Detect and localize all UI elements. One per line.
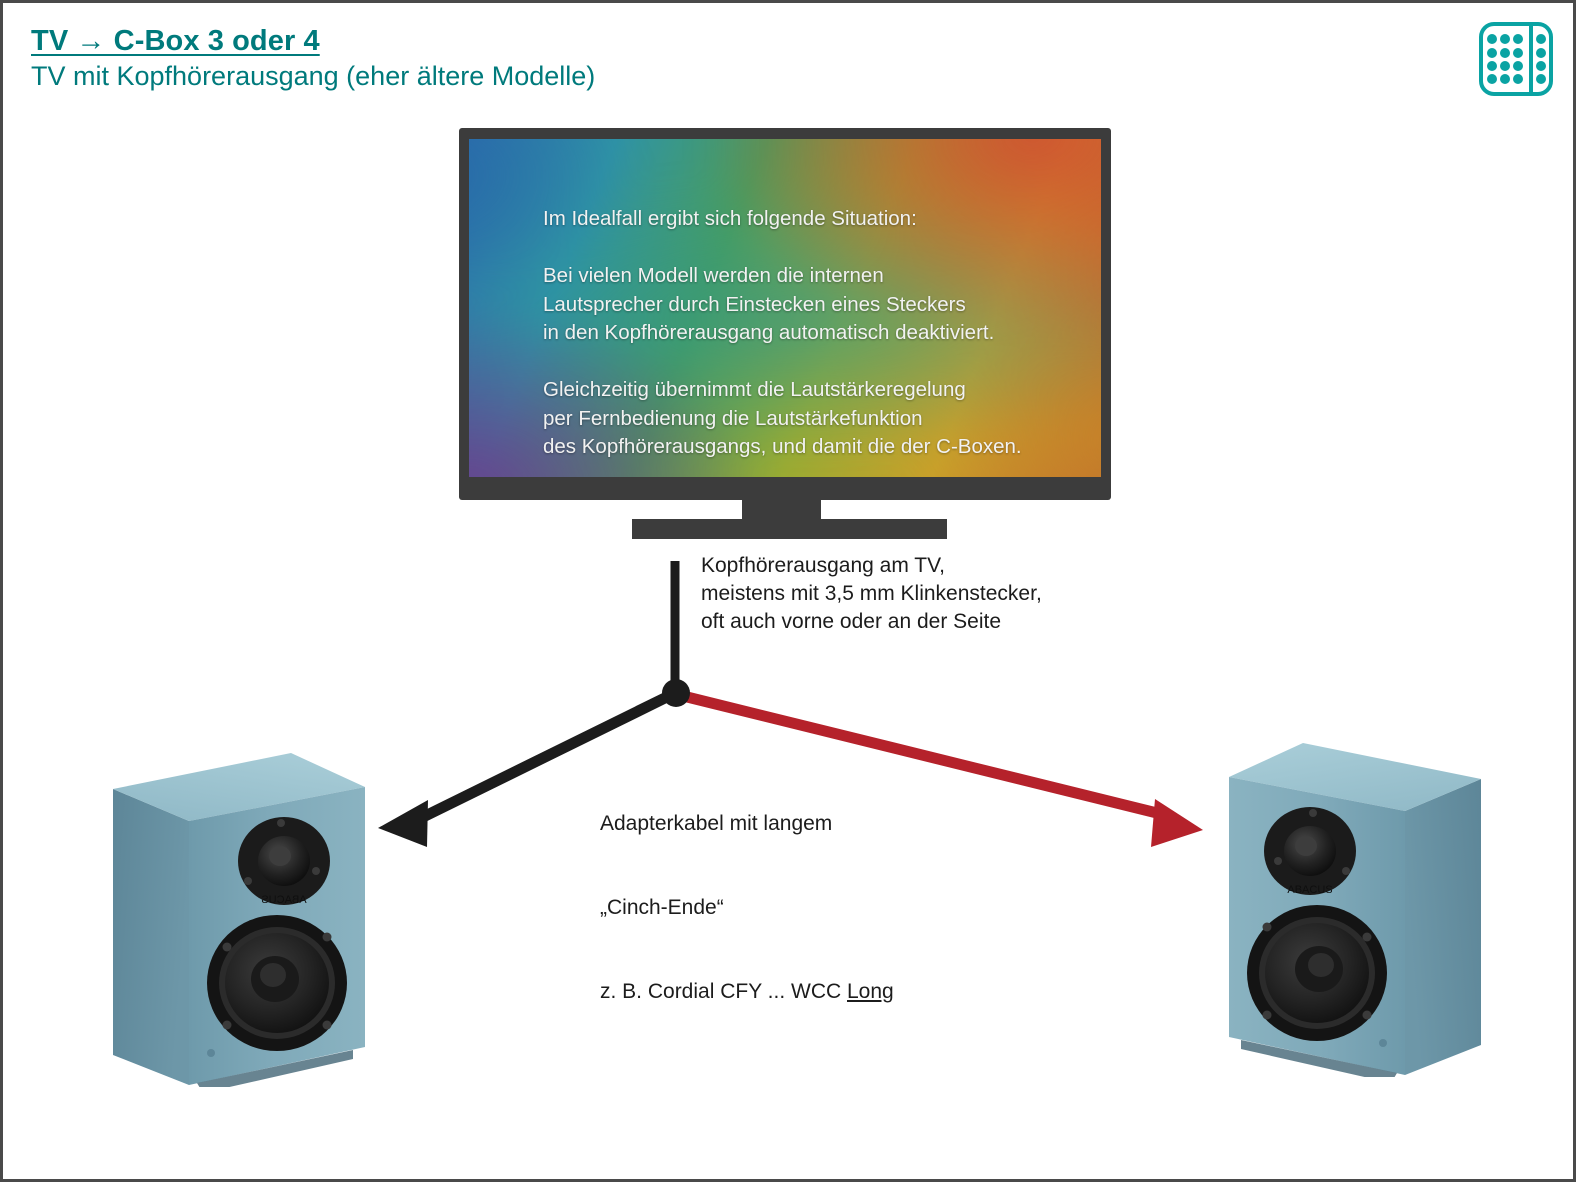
page-title: TV → C-Box 3 oder 4 bbox=[31, 25, 1131, 58]
diagram-page: TV → C-Box 3 oder 4 TV mit Kopfhörerausg… bbox=[0, 0, 1576, 1182]
speaker-left: ABACUS bbox=[103, 725, 395, 1087]
callout-adapter-cable-line3-emphasis: Long bbox=[847, 980, 894, 1003]
arrowhead-right bbox=[1151, 799, 1203, 847]
speaker-right: ABACUS bbox=[1199, 715, 1491, 1077]
callout-adapter-cable: Adapterkabel mit langem „Cinch-Ende“ z. … bbox=[600, 754, 894, 1062]
callout-headphone-jack: Kopfhörerausgang am TV, meistens mit 3,5… bbox=[701, 552, 1042, 636]
abacus-logo bbox=[1475, 18, 1557, 100]
tv-stand-neck bbox=[742, 500, 821, 521]
tv-stand-base bbox=[632, 519, 947, 539]
callout-adapter-cable-line3: z. B. Cordial CFY ... WCC Long bbox=[600, 978, 894, 1006]
tv-screen: Im Idealfall ergibt sich folgende Situat… bbox=[469, 139, 1101, 477]
tv-set: Im Idealfall ergibt sich folgende Situat… bbox=[459, 128, 1111, 500]
speaker-brand-right: ABACUS bbox=[1287, 884, 1332, 896]
callout-adapter-cable-line2: „Cinch-Ende“ bbox=[600, 894, 894, 922]
cable-junction-node bbox=[662, 679, 690, 707]
speaker-brand-left: ABACUS bbox=[261, 894, 306, 906]
callout-adapter-cable-line3-text: z. B. Cordial CFY ... WCC bbox=[600, 980, 847, 1003]
header: TV → C-Box 3 oder 4 TV mit Kopfhörerausg… bbox=[31, 25, 1131, 92]
page-subtitle: TV mit Kopfhörerausgang (eher ältere Mod… bbox=[31, 61, 1131, 92]
callout-adapter-cable-line1: Adapterkabel mit langem bbox=[600, 810, 894, 838]
tv-screen-text: Im Idealfall ergibt sich folgende Situat… bbox=[543, 205, 1022, 462]
